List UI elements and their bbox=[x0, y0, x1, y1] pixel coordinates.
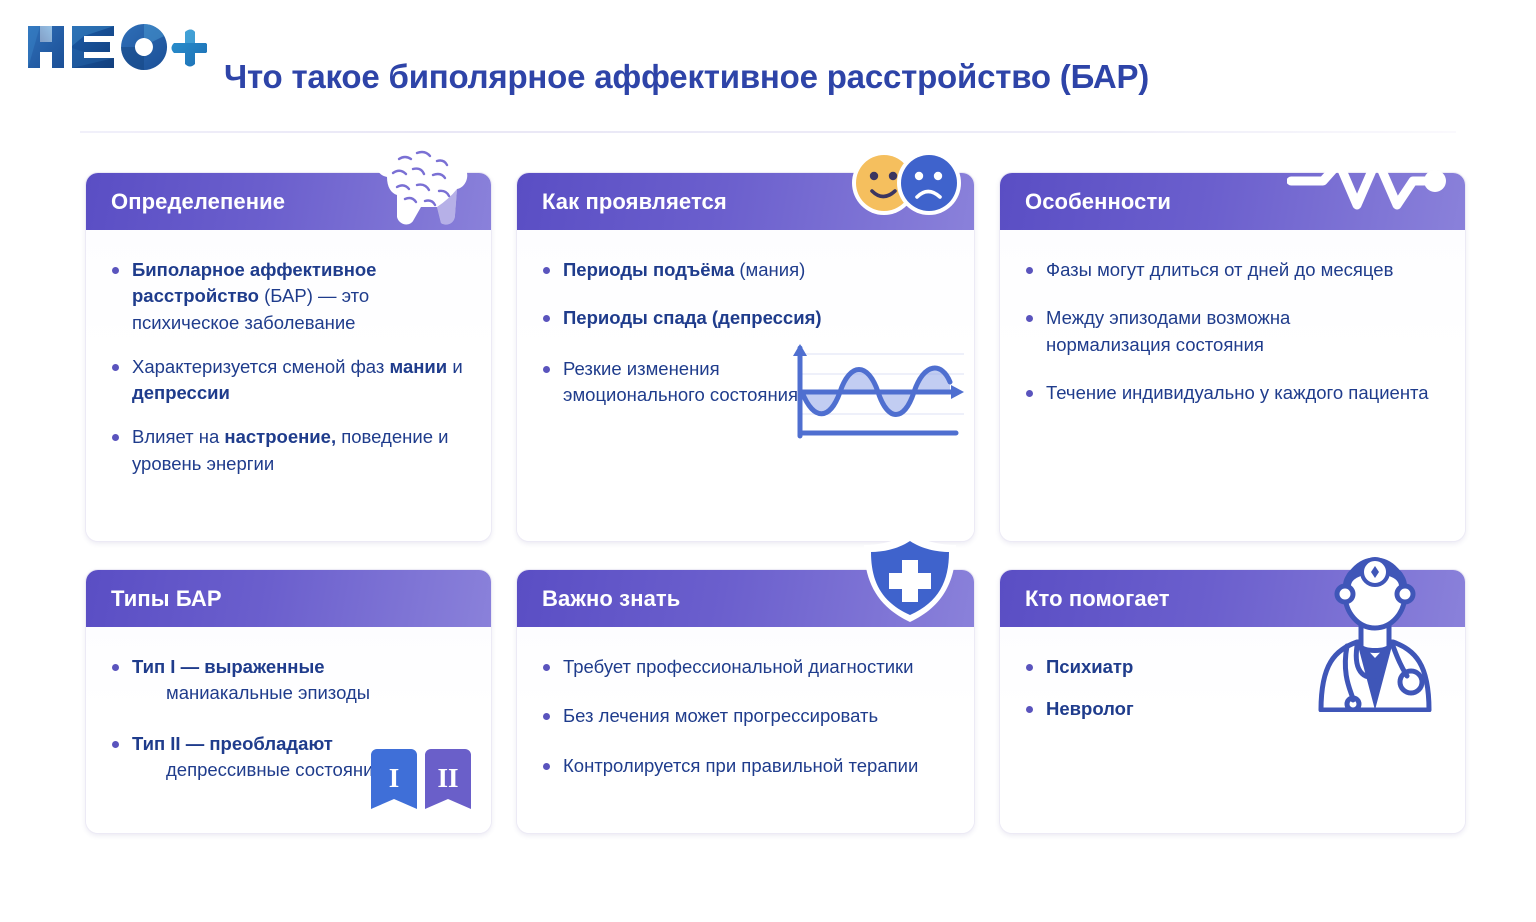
list-item: Тип I — выраженные маниакальные эпизоды bbox=[110, 654, 467, 707]
bullet-bold: Тип II — преобладают bbox=[132, 733, 333, 754]
list-item: Фазы могут длиться от дней до месяцев bbox=[1024, 257, 1441, 283]
list-item: Влияет на настроение, поведение и уровен… bbox=[110, 424, 467, 477]
list-item: Резкие изменения эмоционального состояни… bbox=[541, 356, 841, 409]
bullet-text: Течение индивидуально у каждого пациента bbox=[1046, 382, 1429, 403]
list-item: Биполарное аффективное расстройство (БАР… bbox=[110, 257, 467, 336]
list-item: Периоды спада (депрессия) bbox=[541, 305, 950, 331]
header-divider bbox=[80, 131, 1456, 133]
card-features[interactable]: Особенности Фазы могут длиться от дней д… bbox=[999, 172, 1466, 542]
shield-cross-icon bbox=[854, 528, 966, 626]
bullet-bold: Периоды спада (депрессия) bbox=[563, 307, 822, 328]
neo-plus-logo bbox=[22, 18, 207, 74]
card-manifestation-header: Как проявляется bbox=[517, 173, 974, 230]
card-manifestation-title: Как проявляется bbox=[542, 189, 727, 215]
card-who-helps-list: Психиатр Невролог bbox=[1024, 654, 1441, 723]
list-item: Требует профессиональной диагностики bbox=[541, 654, 950, 680]
list-item: Между эпизодами возможна нормализация со… bbox=[1024, 305, 1344, 358]
card-manifestation-body: Периоды подъёма (мания) Периоды спада (д… bbox=[517, 230, 974, 541]
card-definition-list: Биполарное аффективное расстройство (БАР… bbox=[110, 257, 467, 477]
bullet-bold: Периоды подъёма bbox=[563, 259, 734, 280]
card-who-helps-header: Кто помогает bbox=[1000, 570, 1465, 627]
bullet-pre: Характеризуется сменой фаз bbox=[132, 356, 390, 377]
card-features-list: Фазы могут длиться от дней до месяцев Ме… bbox=[1024, 257, 1441, 406]
card-definition-header: Определепение bbox=[86, 173, 491, 230]
bullet-text: Без лечения может прогрессировать bbox=[563, 705, 878, 726]
bullet-subline: депрессивные состояния bbox=[132, 757, 467, 783]
bullet-line-1: Резкие изменения bbox=[563, 358, 720, 379]
card-important-title: Важно знать bbox=[542, 586, 680, 612]
bullet-bold: Тип I — выраженные bbox=[132, 656, 325, 677]
bullet-bold: мании bbox=[390, 356, 448, 377]
card-who-helps-title: Кто помогает bbox=[1025, 586, 1170, 612]
card-important-body: Требует профессиональной диагностики Без… bbox=[517, 627, 974, 833]
card-manifestation-list: Периоды подъёма (мания) Периоды спада (д… bbox=[541, 257, 950, 408]
card-types-header: Типы БАР bbox=[86, 570, 491, 627]
card-types[interactable]: Типы БАР Тип I — выраженные маниакальные… bbox=[85, 569, 492, 834]
bullet-text: Контролируется при правильной терапии bbox=[563, 755, 918, 776]
card-features-title: Особенности bbox=[1025, 189, 1171, 215]
card-definition-title: Определепение bbox=[111, 189, 285, 215]
page-header: Что такое биполярное аффективное расстро… bbox=[0, 0, 1536, 132]
card-important-list: Требует профессиональной диагностики Без… bbox=[541, 654, 950, 779]
pulse-line-icon bbox=[1287, 151, 1455, 217]
bullet-bold: Невролог bbox=[1046, 698, 1134, 719]
card-definition[interactable]: Определепение bbox=[85, 172, 492, 542]
bullet-rest: (мания) bbox=[734, 259, 805, 280]
bullet-line-2: эмоционального состояния bbox=[563, 384, 798, 405]
bullet-bold: Психиатр bbox=[1046, 656, 1133, 677]
bullet-bold2: депрессии bbox=[132, 382, 230, 403]
list-item: Характеризуется сменой фаз мании и депре… bbox=[110, 354, 467, 407]
list-item: Тип II — преобладают депрессивные состоя… bbox=[110, 731, 467, 784]
page-title: Что такое биполярное аффективное расстро… bbox=[224, 58, 1149, 96]
emotion-faces-icon bbox=[836, 145, 966, 217]
bullet-bold-lead: Биполарное аффективное bbox=[132, 259, 376, 280]
card-features-header: Особенности bbox=[1000, 173, 1465, 230]
bullet-bold-lead2: расстройство bbox=[132, 285, 259, 306]
bullet-subline: маниакальные эпизоды bbox=[132, 680, 467, 706]
list-item: Течение индивидуально у каждого пациента bbox=[1024, 380, 1441, 406]
card-types-list: Тип I — выраженные маниакальные эпизоды … bbox=[110, 654, 467, 783]
list-item: Невролог bbox=[1024, 696, 1441, 722]
list-item: Психиатр bbox=[1024, 654, 1441, 680]
bullet-mid: и bbox=[452, 356, 462, 377]
card-who-helps-body: Психиатр Невролог bbox=[1000, 627, 1465, 833]
list-item: Контролируется при правильной терапии bbox=[541, 753, 950, 779]
card-who-helps[interactable]: Кто помогает bbox=[999, 569, 1466, 834]
card-types-body: Тип I — выраженные маниакальные эпизоды … bbox=[86, 627, 491, 833]
list-item: Без лечения может прогрессировать bbox=[541, 703, 950, 729]
card-important[interactable]: Важно знать Требует профессиональной диа… bbox=[516, 569, 975, 834]
card-definition-body: Биполарное аффективное расстройство (БАР… bbox=[86, 230, 491, 541]
card-important-header: Важно знать bbox=[517, 570, 974, 627]
bullet-text: Между эпизодами возможна нормализация со… bbox=[1046, 307, 1290, 354]
bullet-text: Фазы могут длиться от дней до месяцев bbox=[1046, 259, 1393, 280]
bullet-bold: настроение, bbox=[224, 426, 336, 447]
cards-grid: Определепение bbox=[85, 172, 1457, 834]
brain-icon bbox=[363, 135, 479, 231]
bullet-text: Требует профессиональной диагностики bbox=[563, 656, 913, 677]
card-types-title: Типы БАР bbox=[111, 586, 222, 612]
bullet-pre: Влияет на bbox=[132, 426, 224, 447]
card-features-body: Фазы могут длиться от дней до месяцев Ме… bbox=[1000, 230, 1465, 541]
card-manifestation[interactable]: Как проявляется Период bbox=[516, 172, 975, 542]
list-item: Периоды подъёма (мания) bbox=[541, 257, 950, 283]
